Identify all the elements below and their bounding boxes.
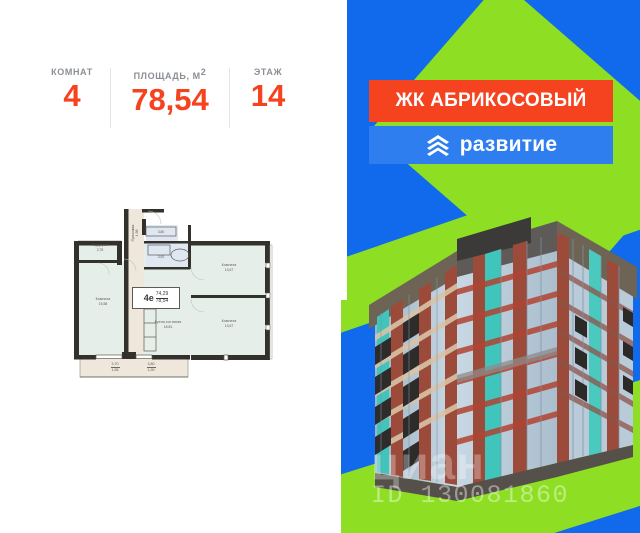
stat-rooms-label: КОМНАТ [51, 66, 93, 78]
plan-balcony-2-area: 3,80 1,90 [140, 362, 162, 372]
listing-card: КОМНАТ 4 ПЛОЩАДЬ, М2 78,54 ЭТАЖ 14 [0, 0, 640, 533]
promo-panel: ЖК АБРИКОСОВЫЙ развитие циан ID 13008186… [341, 0, 640, 533]
floorplan-drawing: Гардероб 2,75 Комната 15,58 Прихожая 4,9… [62, 197, 284, 387]
plan-balcony-1-area: 3,70 1,85 [104, 362, 126, 372]
brand-block: ЖК АБРИКОСОВЫЙ развитие [369, 80, 613, 164]
square-meter-superscript: 2 [201, 67, 207, 77]
plan-room-wardrobe-area: 2,75 [80, 248, 120, 252]
stat-area-value: 78,54 [131, 83, 209, 117]
developer-name-text: развитие [460, 133, 558, 157]
complex-name-text: ЖК АБРИКОСОВЫЙ [396, 90, 587, 112]
floorplan-panel: КОМНАТ 4 ПЛОЩАДЬ, М2 78,54 ЭТАЖ 14 [0, 0, 341, 533]
plan-area-badge: 4е 74,29 78,54 [132, 287, 180, 309]
stat-area-label: ПЛОЩАДЬ, М2 [134, 66, 207, 82]
white-notch [341, 0, 347, 300]
stat-area: ПЛОЩАДЬ, М2 78,54 [111, 66, 229, 117]
stat-rooms-value: 4 [63, 79, 80, 113]
stat-floor: ЭТАЖ 14 [230, 66, 306, 113]
plan-room-kitchen-area: 18,81 [140, 325, 196, 329]
plan-bathroom-1-area: 3,80 [150, 230, 172, 234]
stat-floor-value: 14 [251, 79, 285, 113]
complex-name-banner: ЖК АБРИКОСОВЫЙ [369, 80, 613, 122]
stat-rooms: КОМНАТ 4 [34, 66, 110, 113]
apartment-stats: КОМНАТ 4 ПЛОЩАДЬ, М2 78,54 ЭТАЖ 14 [0, 66, 341, 132]
chevron-stack-icon [425, 133, 451, 157]
plan-area-fraction: 74,29 78,54 [156, 292, 169, 304]
developer-banner[interactable]: развитие [369, 126, 613, 164]
plan-bathroom-2-area: 3,92 [150, 255, 172, 259]
plan-room-right-bottom-name: Комната [202, 319, 256, 323]
plan-room-right-top-name: Комната [202, 263, 256, 267]
building-rendering [361, 195, 640, 515]
plan-room-left-name: Комната [82, 297, 124, 301]
plan-room-kitchen-name: Кухня-гостиная [140, 320, 196, 324]
plan-room-wardrobe-name: Гардероб [80, 243, 120, 247]
stat-floor-label: ЭТАЖ [254, 66, 282, 78]
plan-room-right-bottom-area: 13,67 [202, 324, 256, 328]
plan-room-hall-area: 4,98 [135, 217, 139, 249]
plan-room-right-top-area: 13,67 [202, 268, 256, 272]
plan-area-total: 78,54 [156, 299, 169, 305]
plan-apartment-type: 4е [144, 294, 154, 303]
plan-room-left-area: 15,58 [82, 302, 124, 306]
